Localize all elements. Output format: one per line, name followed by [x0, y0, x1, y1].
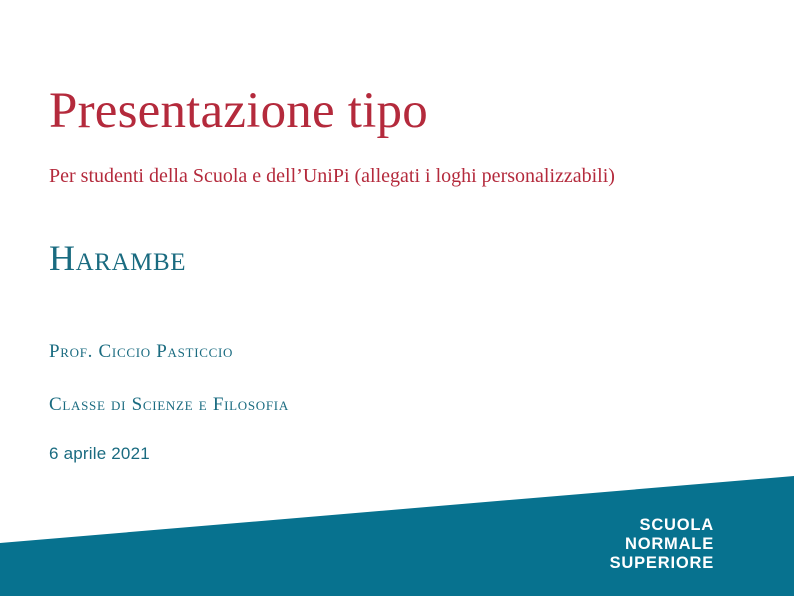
- affiliation-label: Classe di Scienze e Filosofia: [49, 393, 289, 417]
- author-name: Prof. Ciccio Pasticcio: [49, 340, 233, 364]
- logo-line-superiore: SUPERIORE: [610, 554, 714, 573]
- presentation-date: 6 aprile 2021: [49, 443, 150, 465]
- logo-line-normale: NORMALE: [625, 535, 714, 554]
- scuola-normale-superiore-crest-icon: [722, 500, 786, 588]
- footer-band: SCUOLA NORMALE SUPERIORE: [0, 476, 794, 596]
- document-heading: Harambe: [49, 237, 186, 279]
- page-title: Presentazione tipo: [49, 83, 428, 140]
- institution-logo: SCUOLA NORMALE SUPERIORE: [610, 500, 786, 588]
- slide-subtitle: Per studenti della Scuola e dell’UniPi (…: [49, 163, 615, 189]
- logo-wordmark: SCUOLA NORMALE SUPERIORE: [610, 516, 714, 573]
- logo-line-scuola: SCUOLA: [640, 516, 714, 535]
- presentation-slide: Presentazione tipo Per studenti della Sc…: [0, 0, 794, 596]
